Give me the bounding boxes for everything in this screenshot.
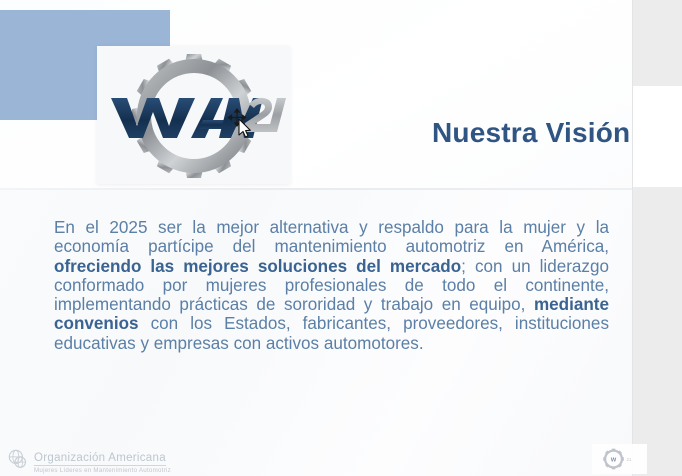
vision-body-text: En el 2025 ser la mejor alternativa y re…: [54, 218, 609, 353]
svg-text:21: 21: [626, 457, 632, 462]
organization-name: Organización Americana: [34, 452, 166, 466]
globe-icon: [8, 449, 29, 470]
svg-text:W: W: [610, 458, 616, 464]
wam-21-watermark-icon: W 21: [600, 448, 640, 470]
organization-titles: Organización Americana Mujeres Líderes e…: [34, 448, 171, 475]
organization-logo: Organización Americana Mujeres Líderes e…: [8, 448, 190, 472]
body-segment-1: En el 2025 ser la mejor alternativa y re…: [54, 218, 609, 256]
presentation-slide: Nuestra Visión En el 2025 ser la mejor a…: [0, 0, 682, 476]
right-side-strip-edge: [632, 0, 633, 476]
logo-card[interactable]: [97, 46, 290, 184]
header-divider: [0, 188, 682, 190]
right-side-strip-gap: [633, 86, 682, 187]
logo-wordmark: [107, 90, 287, 142]
logo-graphic: [97, 46, 290, 184]
watermark-logo: W 21: [592, 444, 647, 474]
page-title: Nuestra Visión: [432, 117, 630, 149]
wam-21-wordmark: [107, 90, 287, 142]
organization-subtitle: Mujeres Líderes en Mantenimiento Automot…: [34, 467, 171, 475]
right-side-strip: [633, 0, 682, 476]
body-segment-2-bold: ofreciendo las mejores soluciones del me…: [54, 257, 461, 276]
